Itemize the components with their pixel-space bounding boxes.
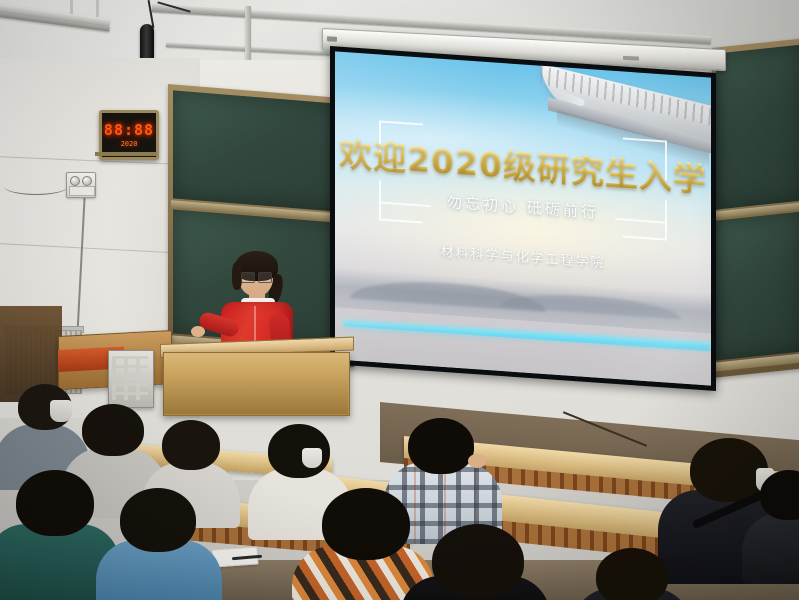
clock-mount-bracket <box>95 152 157 156</box>
projected-slide: 欢迎2020级研究生入学 勿忘初心 砥砺前行 材料科学与化学工程学院 <box>335 51 711 385</box>
projection-screen-assembly: 欢迎2020级研究生入学 勿忘初心 砥砺前行 材料科学与化学工程学院 <box>322 28 724 368</box>
face-mask <box>302 448 322 468</box>
housing-end-cap-icon <box>327 36 337 42</box>
clock-sub-label: 2020 <box>102 140 156 148</box>
clock-digits: 88:88 <box>102 121 156 139</box>
hand <box>468 454 486 468</box>
light-stem <box>70 0 73 14</box>
right-blackboard-group <box>712 38 799 378</box>
switch-knob-icon[interactable] <box>82 176 92 186</box>
face-mask <box>50 400 72 422</box>
presenter-left-hand <box>191 326 205 337</box>
control-panel-buttons[interactable] <box>112 356 148 400</box>
switch-label-plate <box>69 186 95 196</box>
list-item <box>16 470 94 536</box>
eyeglasses-icon <box>241 272 255 283</box>
screen-black-border: 欢迎2020级研究生入学 勿忘初心 砥砺前行 材料科学与化学工程学院 <box>330 46 716 391</box>
list-item <box>432 524 524 598</box>
list-item <box>596 548 668 600</box>
list-item <box>82 404 144 456</box>
list-item <box>120 488 196 552</box>
eyeglasses-icon <box>258 272 272 283</box>
podium-shadow <box>163 376 348 414</box>
light-stem <box>96 0 99 17</box>
lecture-hall-photo: 88:88 2020 <box>0 0 799 600</box>
blackboard-panel-upper <box>716 45 799 210</box>
housing-bracket-icon <box>623 56 639 61</box>
blackboard-panel-lower <box>716 212 799 361</box>
list-item <box>162 420 220 470</box>
wall-cable <box>4 178 68 195</box>
list-item <box>322 488 410 560</box>
wall-switch-box[interactable] <box>66 172 96 198</box>
list-item <box>408 418 474 474</box>
switch-knob-icon[interactable] <box>70 176 80 186</box>
